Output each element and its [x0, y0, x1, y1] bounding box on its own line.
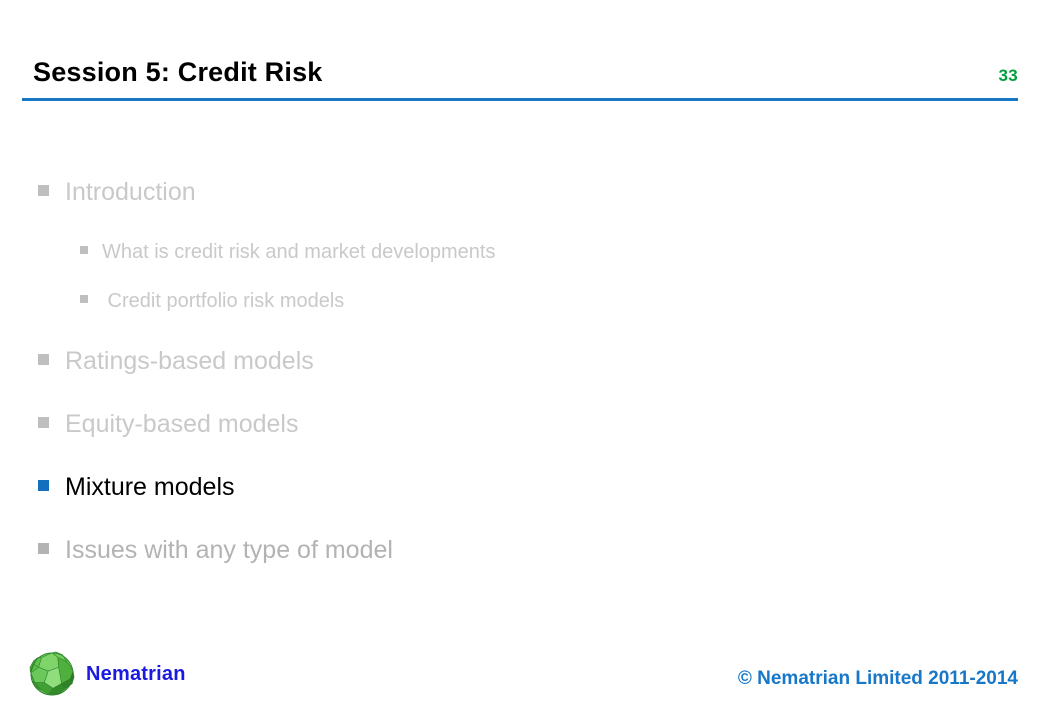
copyright-notice: © Nematrian Limited 2011-2014	[738, 668, 1018, 690]
list-item-label: What is credit risk and market developme…	[102, 241, 496, 264]
slide: Session 5: Credit Risk 33 Introduction W…	[0, 0, 1040, 720]
list-item-ratings-based-models[interactable]: Ratings-based models	[0, 347, 1040, 410]
list-item-label: Mixture models	[65, 473, 235, 501]
square-bullet-icon	[38, 417, 49, 428]
list-item-label: Ratings-based models	[65, 347, 314, 375]
square-bullet-icon	[38, 480, 49, 491]
page-title: Session 5: Credit Risk	[33, 57, 323, 88]
list-item-introduction[interactable]: Introduction	[0, 178, 1040, 241]
list-item-mixture-models[interactable]: Mixture models	[0, 473, 1040, 536]
title-divider	[22, 98, 1018, 101]
outline-list: Introduction What is credit risk and mar…	[0, 150, 1040, 599]
brand-name: Nematrian	[86, 663, 186, 686]
square-bullet-icon	[38, 185, 49, 196]
list-item-label: Issues with any type of model	[65, 536, 393, 564]
list-item-label: Introduction	[65, 178, 196, 206]
list-item-label: Equity-based models	[65, 410, 298, 438]
list-item-what-is-credit-risk[interactable]: What is credit risk and market developme…	[0, 241, 1040, 290]
square-bullet-icon	[80, 246, 88, 254]
square-bullet-icon	[38, 354, 49, 365]
square-bullet-icon	[38, 543, 49, 554]
nematrian-polyhedron-logo-icon	[28, 650, 76, 698]
list-item-label: Credit portfolio risk models	[102, 290, 344, 313]
list-item-issues-with-any-type-of-model[interactable]: Issues with any type of model	[0, 536, 1040, 599]
brand-footer: Nematrian	[28, 650, 186, 698]
list-item-equity-based-models[interactable]: Equity-based models	[0, 410, 1040, 473]
page-number: 33	[998, 66, 1018, 86]
list-item-credit-portfolio-risk-models[interactable]: Credit portfolio risk models	[0, 290, 1040, 339]
square-bullet-icon	[80, 295, 88, 303]
